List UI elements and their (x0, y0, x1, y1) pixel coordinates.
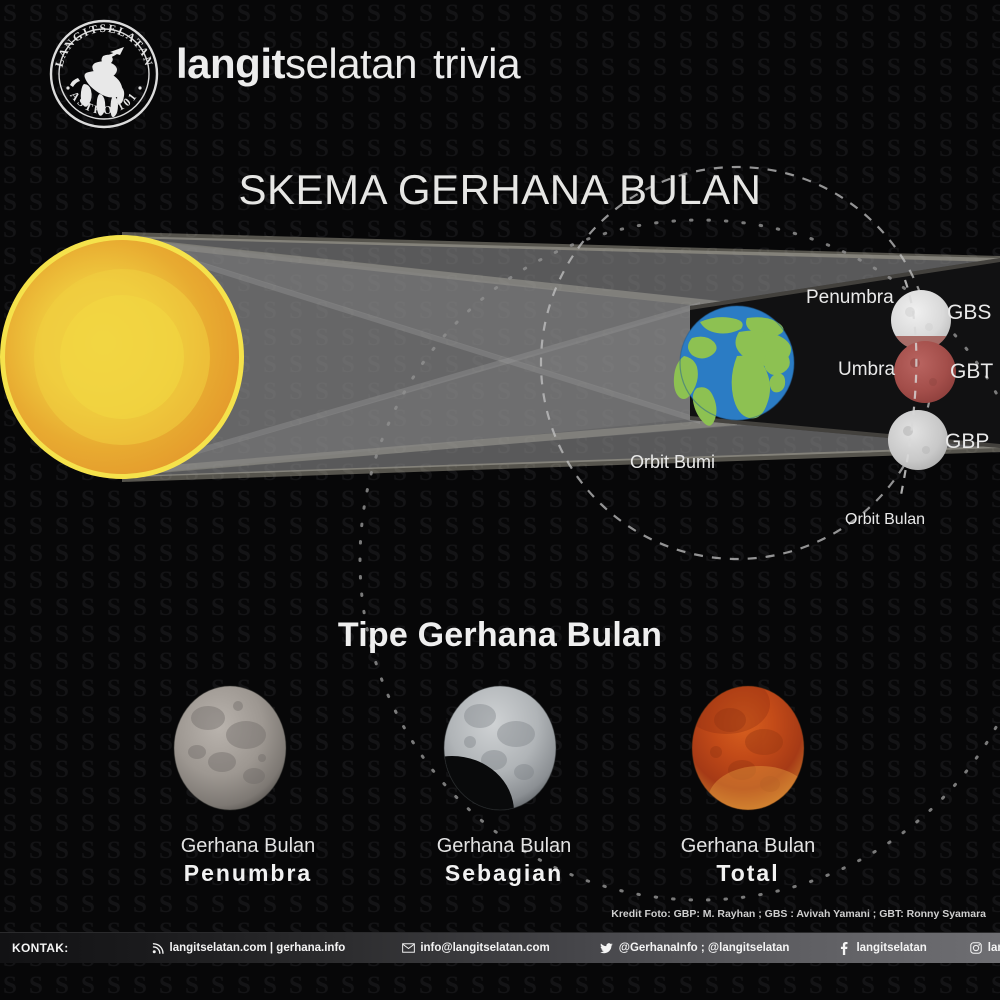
moon-gbt-total (894, 341, 956, 403)
label-gbs: GBS (947, 301, 991, 325)
caption-bottom-sebagian: Sebagian (374, 859, 634, 887)
moon-photo-total (692, 686, 804, 811)
twitter-icon (600, 941, 614, 955)
kontak-label: KONTAK: (12, 941, 69, 955)
eclipse-type-card-sebagian: Gerhana Bulan Sebagian (374, 686, 634, 887)
contact-footer-bar: KONTAK: langitselatan.com | gerhana.info… (0, 932, 1000, 963)
footer-item-instagram[interactable]: langitselatanmedia (969, 941, 1000, 955)
footer-item-twitter[interactable]: @GerhanaInfo ; @langitselatan (600, 941, 790, 955)
label-penumbra: Penumbra (806, 287, 894, 309)
moon-photo-partial (448, 686, 560, 811)
eclipse-type-card-total: Gerhana Bulan Total (618, 686, 878, 887)
rss-icon (151, 941, 165, 955)
label-gbp: GBP (945, 430, 989, 454)
envelope-icon (401, 941, 415, 955)
infographic-canvas: S (0, 0, 1000, 1000)
brand-light: selatan (285, 40, 417, 87)
label-orbit-bumi: Orbit Bumi (630, 452, 715, 473)
brand-suffix: trivia (433, 40, 520, 87)
footer-email-text: info@langitselatan.com (420, 942, 549, 954)
footer-instagram-text: langitselatanmedia (988, 942, 1000, 954)
langitselatan-logo[interactable]: LANGITSELATAN ASTRO 101 (48, 18, 160, 130)
label-umbra: Umbra (838, 359, 895, 381)
page-header: LANGITSELATAN ASTRO 101 langi (0, 0, 1000, 140)
caption-bottom-total: Total (618, 859, 878, 887)
footer-item-website[interactable]: langitselatan.com | gerhana.info (151, 941, 346, 955)
instagram-icon (969, 941, 983, 955)
caption-bottom-penumbra: Penumbra (118, 859, 378, 887)
label-orbit-bulan: Orbit Bulan (845, 511, 925, 529)
footer-item-email[interactable]: info@langitselatan.com (401, 941, 549, 955)
footer-facebook-text: langitselatan (856, 942, 926, 954)
facebook-icon (837, 941, 851, 955)
moon-gbp-penumbral (888, 410, 948, 470)
brand-bold: langit (176, 40, 285, 87)
eclipse-type-card-penumbra: Gerhana Bulan Penumbra (118, 686, 378, 887)
caption-top-sebagian: Gerhana Bulan (374, 833, 634, 859)
caption-top-penumbra: Gerhana Bulan (118, 833, 378, 859)
moon-photo-penumbral (192, 686, 304, 811)
brand-wordmark: langitselatantrivia (176, 40, 520, 88)
sun-body (0, 235, 244, 479)
label-gbt: GBT (950, 360, 993, 384)
footer-item-facebook[interactable]: langitselatan (837, 941, 926, 955)
scheme-title: SKEMA GERHANA BULAN (0, 166, 1000, 214)
photo-credit: Kredit Foto: GBP: M. Rayhan ; GBS : Aviv… (611, 908, 986, 920)
caption-top-total: Gerhana Bulan (618, 833, 878, 859)
types-title: Tipe Gerhana Bulan (0, 616, 1000, 655)
footer-twitter-text: @GerhanaInfo ; @langitselatan (619, 942, 790, 954)
footer-website-text: langitselatan.com | gerhana.info (170, 942, 346, 954)
